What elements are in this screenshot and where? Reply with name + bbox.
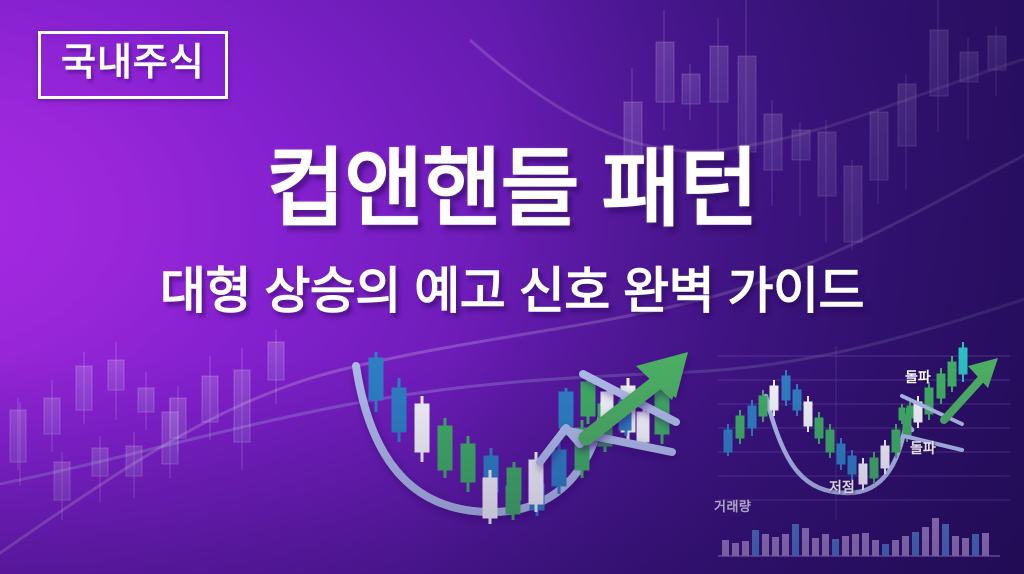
mini-label-breakout-lower: 돌파 — [910, 438, 936, 458]
category-badge-label: 국내주식 — [61, 43, 205, 83]
mini-label-breakout-upper: 돌파 — [905, 367, 931, 387]
page-subtitle: 대형 상승의 예고 신호 완벽 가이드 — [0, 262, 1024, 320]
volume-bars — [722, 518, 989, 556]
mini-label-bottom: 저점 — [829, 477, 855, 497]
mini-label-volume: 거래량 — [714, 496, 751, 515]
category-badge[interactable]: 국내주식 — [38, 31, 228, 99]
page-title: 컵앤핸들 패턴 — [0, 142, 1024, 236]
poster-canvas: 돌파 돌파 저점 거래량 국내주식 컵앤핸들 패턴 대형 상승의 예고 신호 완… — [0, 0, 1024, 574]
mini-candles — [724, 342, 967, 490]
